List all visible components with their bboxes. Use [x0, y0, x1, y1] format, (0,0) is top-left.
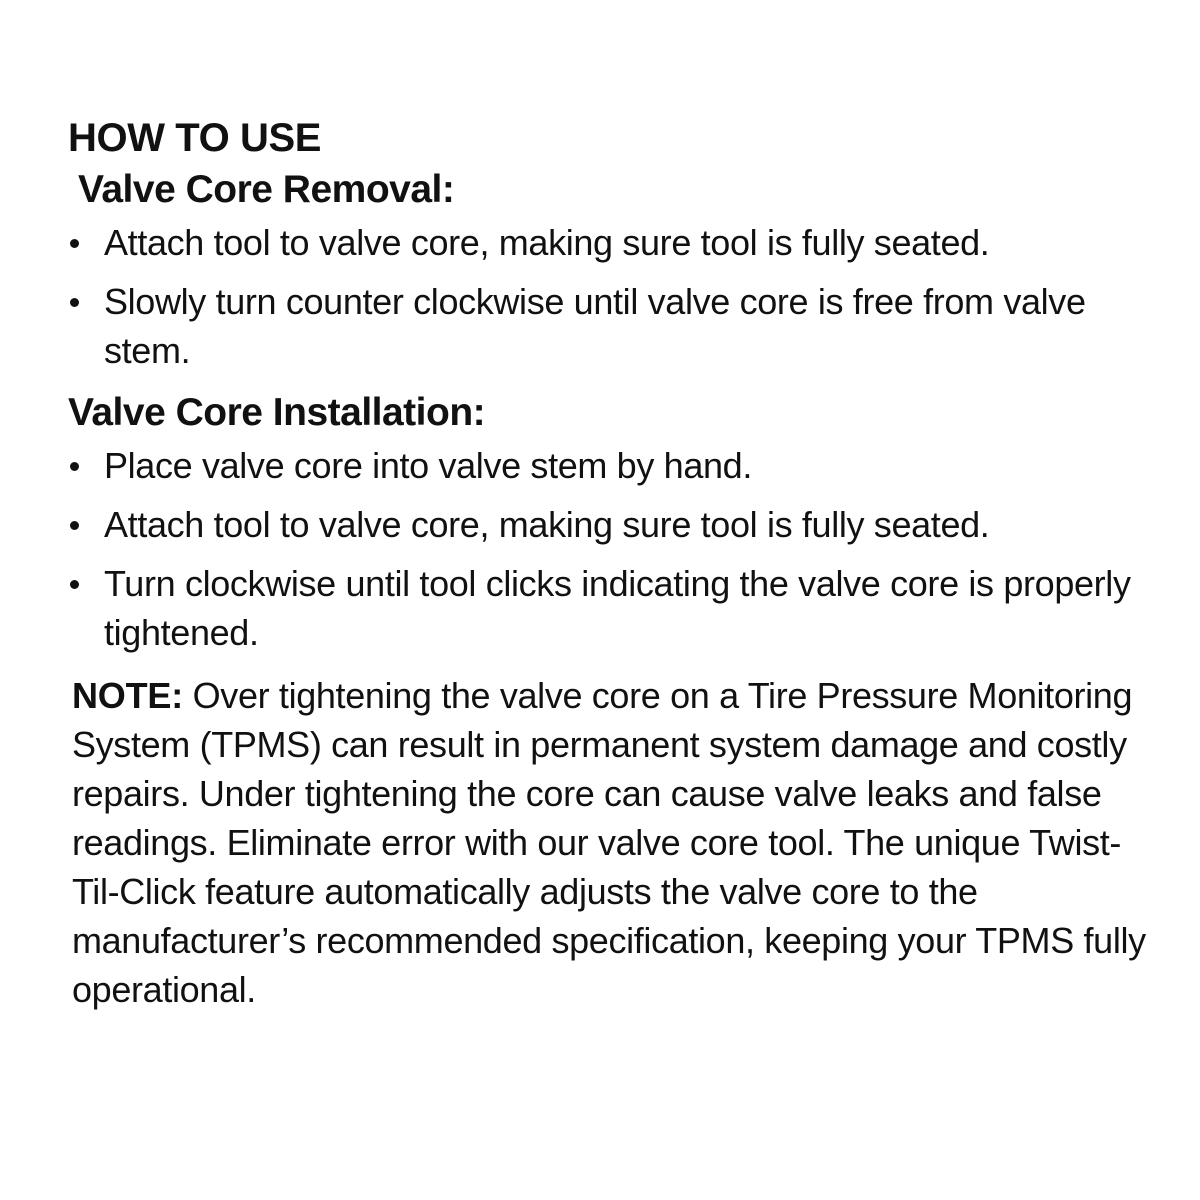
list-item: Slowly turn counter clockwise until valv… — [70, 277, 1146, 375]
list-item-label: Attach tool to valve core, making sure t… — [104, 500, 1146, 549]
note-label: NOTE: — [72, 675, 183, 716]
bullet-dot-icon — [70, 462, 79, 471]
list-item: Place valve core into valve stem by hand… — [70, 441, 1146, 490]
list-item: Turn clockwise until tool clicks indicat… — [70, 559, 1146, 657]
bullet-dot-icon — [70, 580, 79, 589]
valve-core-installation-list: Place valve core into valve stem by hand… — [66, 441, 1146, 657]
bullet-dot-icon — [70, 239, 79, 248]
section-heading-valve-core-removal: Valve Core Removal: — [78, 168, 1146, 212]
list-item: Attach tool to valve core, making sure t… — [70, 218, 1146, 267]
instruction-panel: HOW TO USE Valve Core Removal: Attach to… — [0, 0, 1200, 1200]
note-body: Over tightening the valve core on a Tire… — [72, 675, 1146, 1010]
content-column: HOW TO USE Valve Core Removal: Attach to… — [66, 116, 1146, 1014]
bullet-dot-icon — [70, 298, 79, 307]
valve-core-removal-list: Attach tool to valve core, making sure t… — [66, 218, 1146, 375]
list-item-label: Attach tool to valve core, making sure t… — [104, 218, 1146, 267]
page-title: HOW TO USE — [68, 116, 1146, 160]
bullet-dot-icon — [70, 521, 79, 530]
list-item-label: Slowly turn counter clockwise until valv… — [104, 277, 1146, 375]
list-item-label: Turn clockwise until tool clicks indicat… — [104, 559, 1146, 657]
section-heading-valve-core-installation: Valve Core Installation: — [68, 391, 1146, 435]
note-paragraph: NOTE: Over tightening the valve core on … — [72, 671, 1146, 1014]
list-item-label: Place valve core into valve stem by hand… — [104, 441, 1146, 490]
list-item: Attach tool to valve core, making sure t… — [70, 500, 1146, 549]
